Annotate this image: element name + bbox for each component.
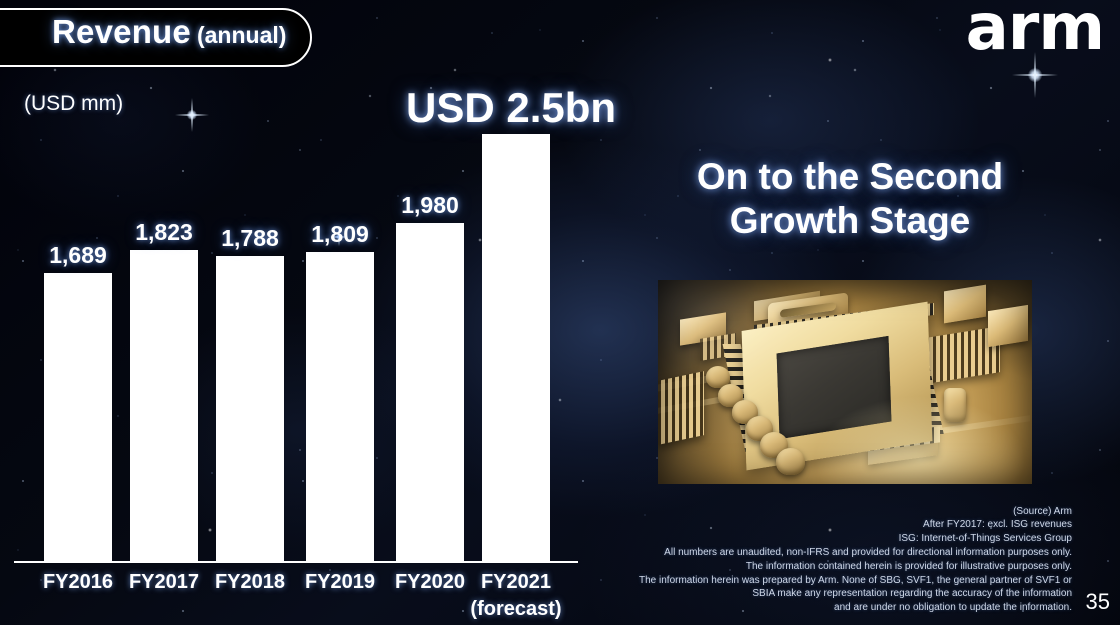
chart-unit-label: (USD mm)	[24, 92, 123, 116]
bar-fy2018	[216, 256, 284, 561]
footnote-line: and are under no obligation to update th…	[512, 601, 1072, 615]
bar-fy2020	[396, 223, 464, 561]
bar-value-fy2018: 1,788	[200, 225, 300, 252]
bar-fy2021	[482, 134, 550, 561]
bar-value-fy2020: 1,980	[380, 192, 480, 219]
footnote-line: SBIA make any representation regarding t…	[512, 587, 1072, 601]
footnote-line: The information herein was prepared by A…	[512, 574, 1072, 588]
footnote-line: All numbers are unaudited, non-IFRS and …	[512, 546, 1072, 560]
bar-value-fy2016: 1,689	[28, 242, 128, 269]
footnotes: (Source) ArmAfter FY2017: excl. ISG reve…	[512, 505, 1072, 615]
bar-value-fy2017: 1,823	[114, 219, 214, 246]
footnote-line: ISG: Internet-of-Things Services Group	[512, 532, 1072, 546]
chart-axis-line	[14, 561, 578, 563]
microchip-photo	[658, 280, 1032, 484]
bar-value-fy2019: 1,809	[290, 221, 390, 248]
arm-logo: arm	[966, 0, 1104, 60]
chip-vignette	[658, 280, 1032, 484]
chart-callout-label: USD 2.5bn	[406, 84, 616, 132]
page-number: 35	[1086, 589, 1110, 615]
bar-fy2016	[44, 273, 112, 561]
headline-line-2: Growth Stage	[640, 199, 1060, 243]
footnote-line: After FY2017: excl. ISG revenues	[512, 518, 1072, 532]
headline: On to the Second Growth Stage	[640, 155, 1060, 242]
footnote-line: The information contained herein is prov…	[512, 560, 1072, 574]
headline-line-1: On to the Second	[640, 155, 1060, 199]
bar-fy2019	[306, 252, 374, 561]
bar-fy2017	[130, 250, 198, 561]
slide-root: Revenue(annual) arm (USD mm) USD 2.5bn 1…	[0, 0, 1120, 625]
revenue-bar-chart: (USD mm) USD 2.5bn 1,689FY20161,823FY201…	[0, 0, 600, 625]
footnote-line: (Source) Arm	[512, 505, 1072, 519]
